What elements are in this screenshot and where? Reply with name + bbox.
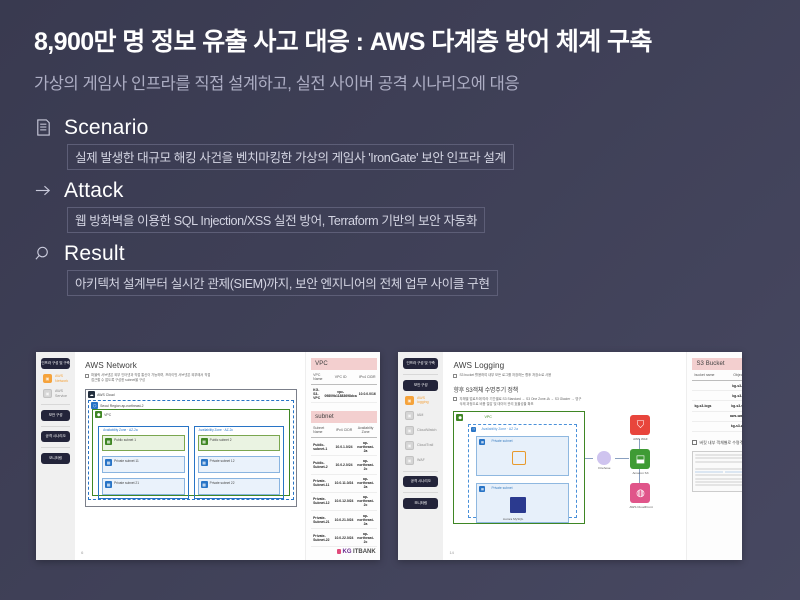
- section-attack-header: Attack: [34, 179, 766, 203]
- vpc-label: VPC: [484, 415, 491, 419]
- az-icon: ⬡: [471, 427, 476, 432]
- left-slide-tables: VPC VPC Name VPC ID IPv4 CIDR KG-S3-VPC …: [305, 352, 380, 560]
- sidebar-subitem-aws-network[interactable]: ▣ AWS Network: [41, 373, 70, 384]
- left-slide-sidebar: 인프라 구성 및 구축 ▣ AWS Network ▣ AWS Service …: [36, 352, 75, 560]
- sidebar-item-attack-scenario[interactable]: 공격 시나리오: [403, 476, 438, 487]
- divider: [403, 374, 438, 375]
- subnet-icon: ▦: [105, 459, 112, 466]
- column-header: VPC ID: [324, 370, 358, 385]
- page-title: 8,900만 명 정보 유출 사고 대응 : AWS 다계층 방어 체계 구축: [34, 28, 766, 58]
- cell: ap-northeast-2c: [354, 456, 376, 474]
- service-aws-cloudfront: ◍ AWS CloudFront: [629, 483, 651, 509]
- sidebar-subitem-label: WAF: [417, 458, 425, 462]
- screenshot-line: [695, 457, 742, 459]
- s3-table-heading: S3 Bucket: [692, 358, 742, 370]
- page-subtitle: 가상의 게임사 인프라를 직접 설계하고, 실전 사이버 공격 시나리오에 대응: [34, 70, 766, 94]
- subnet-private-21: ▦ Private subnet 21: [102, 478, 185, 495]
- divider: [41, 426, 70, 427]
- subnet-private-22: ▦ Private subnet 22: [198, 478, 281, 495]
- cell: Private-Subnet-21: [311, 510, 333, 528]
- network-icon: ▣: [43, 374, 52, 383]
- vpc-box: ⬢ VPC ⬡ Availability Zone · AZ 2a ▦ Priv…: [453, 411, 585, 524]
- sidebar-item-infra[interactable]: 인프라 구성 및 구축: [41, 358, 70, 369]
- availability-zone-2c: Availability Zone · AZ-2c ▦ Public subne…: [194, 426, 285, 499]
- cell: kg-s3-vpc-logs: [724, 401, 742, 411]
- slide-thumbnails: 인프라 구성 및 구축 ▣ AWS Network ▣ AWS Service …: [36, 352, 742, 560]
- firehose-label: Firehose: [593, 466, 615, 470]
- section-scenario: Scenario 실제 발생한 대규모 해킹 사건을 벤치마킹한 가상의 게임사…: [34, 116, 766, 170]
- subnet-icon: ▦: [479, 439, 485, 445]
- subnet-label: Private subnet 12: [210, 459, 235, 463]
- cell: ap-northeast-2c: [354, 529, 376, 547]
- logging-icon: ▣: [405, 396, 414, 405]
- section-attack-label: Attack: [64, 179, 124, 203]
- table-row: Private-Subnet-12 10.0.12.0/24 ap-northe…: [311, 492, 377, 510]
- screenshot-line: [695, 461, 742, 463]
- subnet-private-11: ▦ Private subnet 11: [102, 456, 185, 473]
- table-row: kg-s3-logs kg-s3-vpc-logs ap-northeast-2: [692, 401, 742, 411]
- cell: Public-Subnet-2: [311, 456, 333, 474]
- bullet-icon: [453, 397, 457, 401]
- table-row: Private-Subnet-22 10.0.22.0/24 ap-northe…: [311, 529, 377, 547]
- search-icon: [34, 244, 53, 263]
- service-aws-waf: ⛉ AWS WAF: [629, 415, 651, 441]
- service-label: AWS WAF: [629, 437, 651, 441]
- column-header: Subnet Name: [311, 423, 333, 438]
- subnet-label: Private subnet 11: [114, 459, 139, 463]
- subnet-icon: ▦: [105, 438, 112, 445]
- section-scenario-desc: 실제 발생한 대규모 해킹 사건을 벤치마킹한 가상의 게임사 'IronGat…: [67, 144, 514, 170]
- service-label: Amazon S3: [629, 471, 651, 475]
- section-list: Scenario 실제 발생한 대규모 해킹 사건을 벤치마킹한 가상의 게임사…: [0, 116, 800, 296]
- connector-line: [585, 458, 593, 459]
- slide-thumbnail-aws-network[interactable]: 인프라 구성 및 구축 ▣ AWS Network ▣ AWS Service …: [36, 352, 380, 560]
- az-label: Availability Zone · AZ 2a: [481, 427, 518, 431]
- divider: [41, 447, 70, 448]
- sidebar-subitem-label: AWS logging: [417, 396, 436, 405]
- screenshot-line: [695, 474, 742, 476]
- cell: vpc-09809b11883698dca: [324, 385, 358, 403]
- subnet-label: Private subnet 22: [210, 481, 235, 485]
- private-subnet-upper: ▦ Private subnet: [476, 436, 569, 476]
- subnet-public-1: ▦ Public subnet 1: [102, 435, 185, 452]
- sidebar-subitem-label: IAM: [417, 413, 423, 417]
- cell: KG-S3-VPC: [311, 385, 323, 403]
- right-slide-tables: S3 Bucket bucket name Object name Region…: [686, 352, 742, 560]
- sidebar-subitem-label: AWS Network: [55, 374, 68, 383]
- logo-flag-icon: [337, 549, 341, 554]
- left-slide-page-number: 6: [81, 550, 83, 555]
- sidebar-item-security[interactable]: 보안 구성: [41, 410, 70, 421]
- sidebar-item-monitoring[interactable]: 모니터링: [403, 498, 438, 509]
- sidebar-subitem-aws-logging[interactable]: ▣ AWS logging: [403, 395, 438, 406]
- page-header: 8,900만 명 정보 유출 사고 대응 : AWS 다계층 방어 체계 구축 …: [0, 0, 800, 94]
- aws-cloudfront-icon: ◍: [630, 483, 650, 503]
- cell: [692, 411, 723, 421]
- cell: Private-Subnet-12: [311, 492, 333, 510]
- table-row: Private-Subnet-21 10.0.21.0/24 ap-northe…: [311, 510, 377, 528]
- sidebar-item-infra[interactable]: 인프라 구성 및 구축: [403, 358, 438, 369]
- service-amazon-s3: ⬓ Amazon S3: [629, 449, 651, 475]
- firehose-node: Firehose: [593, 451, 615, 470]
- subnet-icon: ▦: [201, 438, 208, 445]
- iam-icon: ▣: [405, 411, 414, 420]
- logo-kg: KG: [343, 549, 352, 555]
- cell: 10.0.0.0/16: [358, 385, 377, 403]
- right-slide-subnote-text: 자체별 업로드에 따라 기간별로 S3 Standard → S3 One Zo…: [459, 397, 581, 407]
- column-header: VPC Name: [311, 370, 323, 385]
- aws-cloud-label-row: ☁ AWS Cloud: [86, 390, 296, 400]
- subnet-private-12: ▦ Private subnet 12: [198, 456, 281, 473]
- private-subnet-lower: ▦ Private subnet Aurora MySQL: [476, 483, 569, 523]
- sidebar-subitem-cloudwatch[interactable]: ▣ CloudWatch: [403, 425, 438, 436]
- right-slide-page-number: 14: [449, 550, 453, 555]
- availability-zone-row: Availability Zone · AZ-2a ▦ Public subne…: [93, 420, 289, 505]
- amazon-s3-icon: ⬓: [630, 449, 650, 469]
- subnet-icon: ▦: [479, 486, 485, 492]
- column-header: Availablity Zone: [354, 423, 376, 438]
- availability-zone-2a: Availability Zone · AZ-2a ▦ Public subne…: [98, 426, 189, 499]
- screenshot-line: [695, 484, 742, 486]
- screenshot-table-row: [695, 471, 742, 473]
- vpc-icon: ⬢: [456, 414, 463, 421]
- document-icon: [34, 118, 53, 137]
- cell: ap-northeast-2a: [354, 510, 376, 528]
- cloudtrail-icon: ▣: [405, 441, 414, 450]
- sidebar-item-security[interactable]: 보안 구성: [403, 380, 438, 391]
- vpc-table: VPC Name VPC ID IPv4 CIDR KG-S3-VPC vpc-…: [311, 370, 377, 403]
- right-slide-subnote: 자체별 업로드에 따라 기간별로 S3 Standard → S3 One Zo…: [453, 397, 581, 407]
- resource-placeholder-icon: [512, 451, 526, 465]
- right-slide-note-text: S3 bucket 활용하여 내부 모든 로그를 저장하는 향후 저장소로 사용: [459, 373, 551, 378]
- divider: [403, 471, 438, 472]
- sidebar-item-monitoring[interactable]: 모니터링: [41, 453, 70, 464]
- subnet-label: Public subnet 1: [114, 438, 136, 442]
- sidebar-subitem-waf[interactable]: ▣ WAF: [403, 455, 438, 466]
- waf-icon: ▣: [405, 456, 414, 465]
- cell: Private-Subnet-22: [311, 529, 333, 547]
- table-row: kg-s3-db-logs ap-northeast-2: [692, 381, 742, 391]
- right-slide-title: AWS Logging: [453, 361, 678, 370]
- screenshot-line: [695, 478, 742, 480]
- right-slide-note: S3 bucket 활용하여 내부 모든 로그를 저장하는 향후 저장소로 사용: [453, 373, 581, 378]
- cell: ap-northeast-2a: [354, 474, 376, 492]
- service-label: AWS CloudFront: [629, 505, 651, 509]
- az-label: Availability Zone · AZ-2c: [199, 428, 233, 432]
- slide-thumbnail-aws-logging[interactable]: 인프라 구성 및 구축 보안 구성 ▣ AWS logging ▣ IAM ▣ …: [398, 352, 742, 560]
- subnet-table: Subnet Name IPv4 CIDR Availablity Zone P…: [311, 423, 377, 547]
- cell: kg-s3-logs: [692, 401, 723, 411]
- subnet-icon: ▦: [201, 481, 208, 488]
- left-slide-logo: KG ITBANK: [337, 549, 376, 555]
- cell: 10.0.11.0/24: [334, 474, 355, 492]
- aws-cloud-diagram: ☁ AWS Cloud ⬡ Seoul Region ap-northeast-…: [85, 389, 297, 507]
- sidebar-subitem-label: AWS Service: [55, 389, 68, 398]
- table-row: kg-s3-s3-logs ap-northeast-2: [692, 391, 742, 401]
- table-row: KG-S3-VPC vpc-09809b11883698dca 10.0.0.0…: [311, 385, 377, 403]
- screenshot-line: [695, 454, 742, 456]
- table-row: Public-Subnet-2 10.0.2.0/24 ap-northeast…: [311, 456, 377, 474]
- az-label: Availability Zone · AZ-2a: [103, 428, 138, 432]
- region-box: ⬡ Seoul Region ap-northeast-2 ⬢ VPC Avai…: [88, 400, 294, 500]
- sidebar-subitem-label: CloudTrail: [417, 443, 433, 447]
- aurora-mysql-icon: [510, 497, 526, 513]
- column-header: IPv4 CIDR: [334, 423, 355, 438]
- vpc-table-heading: VPC: [311, 358, 377, 370]
- table-row: kg-s3-web-logs ap-northeast-2: [692, 421, 742, 431]
- divider: [41, 404, 70, 405]
- vpc-label: VPC: [104, 413, 111, 417]
- cell: Private-Subnet-11: [311, 474, 333, 492]
- sidebar-item-attack-scenario[interactable]: 공격 시나리오: [41, 431, 70, 442]
- left-slide-body: AWS Network 퍼블릭 서브넷은 외부 인터넷과 직접 통신이 가능하며…: [75, 352, 305, 560]
- arrow-right-icon: [34, 181, 53, 200]
- table-header-row: bucket name Object name Region: [692, 370, 742, 381]
- sidebar-subitem-aws-service[interactable]: ▣ AWS Service: [41, 388, 70, 399]
- section-result-label: Result: [64, 242, 125, 266]
- subnet-label: Private subnet: [491, 439, 512, 443]
- section-attack-desc: 웹 방화벽을 이용한 SQL Injection/XSS 실전 방어, Terr…: [67, 207, 485, 233]
- cell: 10.0.21.0/24: [334, 510, 355, 528]
- subnet-public-2: ▦ Public subnet 2: [198, 435, 281, 452]
- sidebar-subitem-cloudtrail[interactable]: ▣ CloudTrail: [403, 440, 438, 451]
- cell: ap-northeast-2a: [354, 438, 376, 456]
- aws-cloud-icon: ☁: [88, 391, 95, 398]
- cell: kg-s3-web-logs: [724, 421, 742, 431]
- table-header-row: VPC Name VPC ID IPv4 CIDR: [311, 370, 377, 385]
- cell: 10.0.22.0/24: [334, 529, 355, 547]
- subnet-table-heading: subnet: [311, 411, 377, 423]
- subnet-icon: ▦: [201, 459, 208, 466]
- screenshot-line: [695, 468, 742, 470]
- aws-logging-diagram: ⬢ VPC ⬡ Availability Zone · AZ 2a ▦ Priv…: [453, 411, 678, 524]
- table-row: aws-waf-logs-kg ap-northeast-2: [692, 411, 742, 421]
- bullet-icon: [692, 440, 697, 445]
- aws-waf-icon: ⛉: [630, 415, 650, 435]
- table-row: Private-Subnet-11 10.0.11.0/24 ap-northe…: [311, 474, 377, 492]
- vpc-label-row: ⬢ VPC: [93, 410, 289, 420]
- section-attack: Attack 웹 방화벽을 이용한 SQL Injection/XSS 실전 방…: [34, 179, 766, 233]
- firehose-icon: [597, 451, 611, 465]
- cell: kg-s3-s3-logs: [724, 391, 742, 401]
- bucket-note: 버킷 내부 객체별로 수명주기 정책 설정: [692, 440, 742, 446]
- sidebar-subitem-label: CloudWatch: [417, 428, 436, 432]
- cell: Public-subnet-1: [311, 438, 333, 456]
- connector-line: [615, 458, 629, 459]
- cell: kg-s3-db-logs: [724, 381, 742, 391]
- right-slide-body: AWS Logging S3 bucket 활용하여 내부 모든 로그를 저장하…: [443, 352, 686, 560]
- aws-cloud-label: AWS Cloud: [97, 393, 114, 397]
- column-header: IPv4 CIDR: [358, 370, 377, 385]
- table-header-row: Subnet Name IPv4 CIDR Availablity Zone: [311, 423, 377, 438]
- vpc-icon: ⬢: [95, 411, 102, 418]
- cloudwatch-icon: ▣: [405, 426, 414, 435]
- subnet-label: Private subnet: [491, 486, 512, 490]
- availability-zone-box: ⬡ Availability Zone · AZ 2a ▦ Private su…: [468, 424, 577, 518]
- left-slide-note-text: 퍼블릭 서브넷은 외부 인터넷과 직접 통신이 가능하며, 프라이빗 서브넷은 …: [91, 373, 213, 383]
- cell: [692, 421, 723, 431]
- bullet-icon: [453, 374, 457, 378]
- bucket-note-text: 버킷 내부 객체별로 수명주기 정책 설정: [699, 440, 742, 446]
- cell: aws-waf-logs-kg: [724, 411, 742, 421]
- table-row: Public-subnet-1 10.0.1.0/24 ap-northeast…: [311, 438, 377, 456]
- left-slide-title: AWS Network: [85, 361, 297, 370]
- subnet-icon: ▦: [105, 481, 112, 488]
- section-result-desc: 아키텍처 설계부터 실시간 관제(SIEM)까지, 보안 엔지니어의 전체 업무…: [67, 270, 498, 296]
- subnet-label: Private subnet 21: [114, 481, 139, 485]
- region-label: Seoul Region ap-northeast-2: [100, 404, 143, 408]
- cell: 10.0.1.0/24: [334, 438, 355, 456]
- s3-bucket-table: bucket name Object name Region kg-s3-db-…: [692, 370, 742, 432]
- right-slide-subheading: 향후 S3객체 수명주기 정책: [453, 385, 678, 394]
- cell: [692, 381, 723, 391]
- divider: [403, 492, 438, 493]
- section-result: Result 아키텍처 설계부터 실시간 관제(SIEM)까지, 보안 엔지니어…: [34, 242, 766, 296]
- column-header: Object name: [724, 370, 742, 381]
- bullet-icon: [85, 374, 89, 378]
- cell: 10.0.2.0/24: [334, 456, 355, 474]
- aurora-label: Aurora MySQL: [503, 517, 523, 521]
- section-scenario-label: Scenario: [64, 116, 148, 140]
- sidebar-subitem-iam[interactable]: ▣ IAM: [403, 410, 438, 421]
- cell: 10.0.12.0/24: [334, 492, 355, 510]
- right-slide-sidebar: 인프라 구성 및 구축 보안 구성 ▣ AWS logging ▣ IAM ▣ …: [398, 352, 443, 560]
- screenshot-line: [695, 481, 742, 483]
- cell: [692, 391, 723, 401]
- section-result-header: Result: [34, 242, 766, 266]
- vpc-box: ⬢ VPC Availability Zone · AZ-2a ▦ Public…: [92, 409, 290, 496]
- console-screenshot: [692, 451, 742, 492]
- section-scenario-header: Scenario: [34, 116, 766, 140]
- service-icon: ▣: [43, 389, 52, 398]
- subnet-label: Public subnet 2: [210, 438, 232, 442]
- column-header: bucket name: [692, 370, 723, 381]
- logo-itbank: ITBANK: [353, 549, 376, 555]
- cell: ap-northeast-2c: [354, 492, 376, 510]
- left-slide-note: 퍼블릭 서브넷은 외부 인터넷과 직접 통신이 가능하며, 프라이빗 서브넷은 …: [85, 373, 213, 383]
